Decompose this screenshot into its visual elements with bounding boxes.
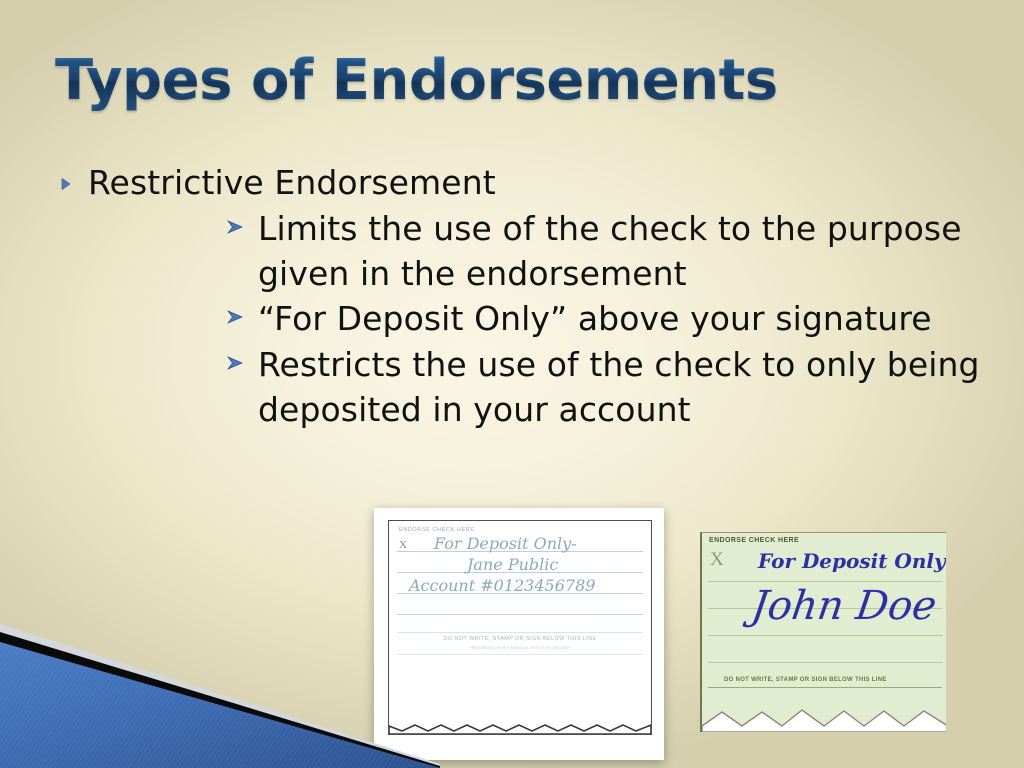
page-title: Types of Endorsements bbox=[55, 52, 955, 111]
check-left-warning: DO NOT WRITE, STAMP OR SIGN BELOW THIS L… bbox=[399, 636, 641, 642]
check-left-warning-sub: *RESERVED FOR FINANCIAL INSTITUTION USE* bbox=[399, 645, 641, 650]
check-left-face: ENDORSE CHECK HERE X For Deposit Only- J… bbox=[388, 520, 652, 735]
list-item-label: Limits the use of the check to the purpo… bbox=[258, 206, 988, 296]
check-left-zigzag-edge bbox=[389, 704, 651, 734]
list-item: Restricts the use of the check to only b… bbox=[226, 342, 988, 432]
check-right-header-label: ENDORSE CHECK HERE bbox=[709, 537, 799, 544]
triangle-right-bullet-icon bbox=[58, 163, 88, 192]
check-right-warning: DO NOT WRITE, STAMP OR SIGN BELOW THIS L… bbox=[724, 677, 940, 683]
list-item: Restrictive Endorsement bbox=[58, 163, 988, 204]
arrowhead-bullet-icon bbox=[226, 206, 258, 235]
check-right-x-mark: X bbox=[710, 549, 724, 571]
slide-canvas: Types of Endorsements Types of Endorseme… bbox=[0, 0, 1024, 768]
check-image-left: ENDORSE CHECK HERE X For Deposit Only- J… bbox=[374, 508, 664, 760]
check-left-hand-line-1: For Deposit Only- bbox=[434, 534, 577, 553]
arrowhead-bullet-icon bbox=[226, 342, 258, 371]
check-left-hand-line-2: Jane Public bbox=[467, 555, 558, 574]
list-item: Limits the use of the check to the purpo… bbox=[226, 206, 988, 296]
list-item-label: “For Deposit Only” above your signature bbox=[258, 296, 988, 341]
check-image-right: ENDORSE CHECK HERE X For Deposit Only Jo… bbox=[700, 532, 946, 732]
check-right-face: ENDORSE CHECK HERE X For Deposit Only Jo… bbox=[700, 532, 946, 732]
check-left-hand-line-3: Account #0123456789 bbox=[409, 576, 595, 595]
list-item: “For Deposit Only” above your signature bbox=[226, 296, 988, 341]
list-item-label: Restricts the use of the check to only b… bbox=[258, 342, 988, 432]
check-right-zigzag-edge bbox=[702, 702, 946, 732]
check-right-endorsement-text: For Deposit Only bbox=[758, 549, 946, 573]
check-left-header-label: ENDORSE CHECK HERE bbox=[399, 527, 475, 533]
list-item-label: Restrictive Endorsement bbox=[88, 163, 988, 204]
check-left-x-mark: X bbox=[399, 539, 407, 551]
bullet-list: Restrictive Endorsement Limits the use o… bbox=[58, 163, 988, 432]
check-right-signature: John Doe bbox=[749, 583, 940, 629]
arrowhead-bullet-icon bbox=[226, 296, 258, 325]
